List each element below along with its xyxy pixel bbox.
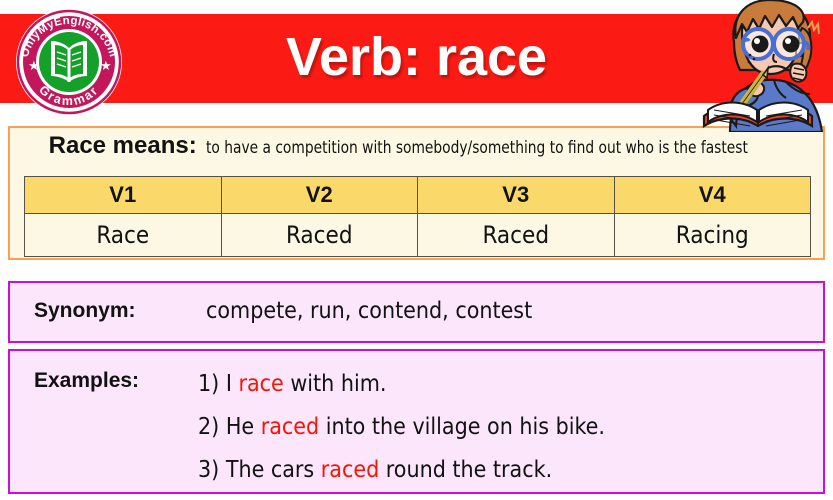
verb-form-header-v3: V3	[418, 177, 615, 214]
example-text-after: into the village on his bike.	[319, 414, 605, 440]
example-number: 3)	[198, 457, 219, 483]
example-line: 3) The cars raced round the track.	[198, 449, 808, 492]
logo-star-left-icon: ★	[28, 59, 40, 74]
synonym-panel: Synonym: compete, run, contend, contest	[8, 281, 825, 343]
table-value-row: Race Raced Raced Racing	[25, 214, 811, 257]
definition-label: Race means:	[49, 132, 197, 160]
examples-panel: Examples: 1) I race with him.2) He raced…	[8, 349, 825, 494]
synonym-text: compete, run, contend, contest	[206, 298, 532, 324]
example-number: 2)	[198, 414, 219, 440]
verb-forms-table: V1 V2 V3 V4 Race Raced Raced Racing	[24, 176, 811, 257]
examples-list: 1) I race with him.2) He raced into the …	[198, 363, 808, 492]
definition-row: Race means: to have a competition with s…	[10, 132, 827, 174]
examples-label: Examples:	[34, 369, 139, 393]
example-highlight-verb: raced	[261, 414, 319, 440]
studying-student-illustration	[690, 0, 833, 132]
example-line: 2) He raced into the village on his bike…	[198, 406, 808, 449]
site-logo-badge[interactable]: OnlyMyEnglish.com Grammar ★ ★	[13, 6, 125, 118]
definition-and-forms-panel: Race means: to have a competition with s…	[8, 126, 825, 260]
verb-form-value-v1: Race	[25, 214, 222, 257]
table-header-row: V1 V2 V3 V4	[25, 177, 811, 214]
example-text-after: with him.	[284, 371, 387, 397]
logo-svg: OnlyMyEnglish.com Grammar ★ ★	[13, 6, 125, 118]
synonym-label: Synonym:	[34, 299, 136, 323]
verb-form-value-v3: Raced	[418, 214, 615, 257]
example-text-before: He	[219, 414, 260, 440]
example-text-before: I	[219, 371, 238, 397]
verb-form-value-v4: Racing	[614, 214, 811, 257]
example-text-after: round the track.	[379, 457, 552, 483]
verb-form-value-v2: Raced	[221, 214, 418, 257]
verb-form-header-v1: V1	[25, 177, 222, 214]
example-number: 1)	[198, 371, 219, 397]
example-line: 1) I race with him.	[198, 363, 808, 406]
verb-form-header-v2: V2	[221, 177, 418, 214]
example-highlight-verb: raced	[321, 457, 379, 483]
example-highlight-verb: race	[239, 371, 284, 397]
definition-text: to have a competition with somebody/some…	[206, 138, 748, 157]
verb-form-header-v4: V4	[614, 177, 811, 214]
logo-star-right-icon: ★	[100, 59, 112, 74]
example-text-before: The cars	[219, 457, 321, 483]
